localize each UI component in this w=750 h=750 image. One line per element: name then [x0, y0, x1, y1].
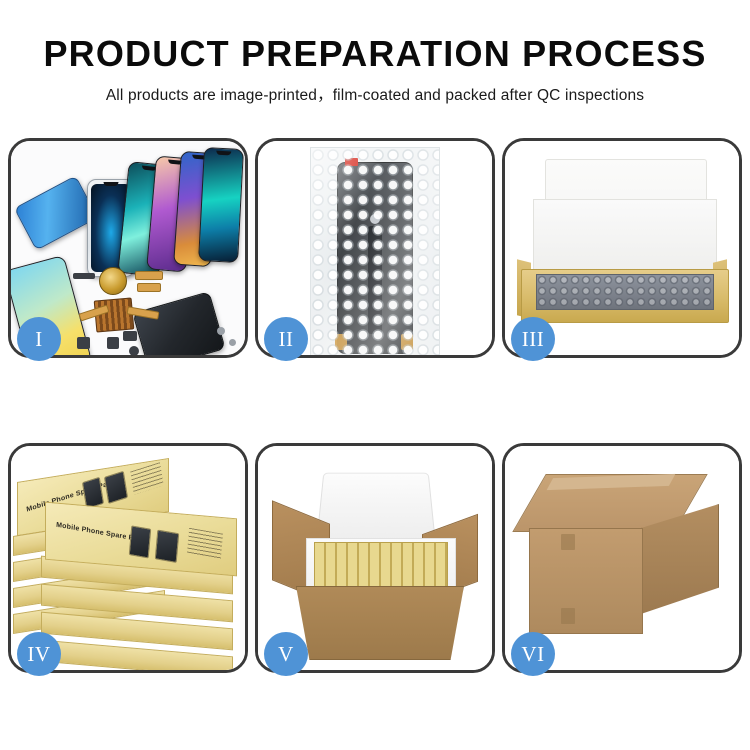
box-phone-image-icon	[129, 525, 152, 558]
vibrator-part-icon	[123, 331, 137, 341]
bubble-wrap-pouch	[310, 147, 440, 355]
plastic-sheen	[311, 148, 439, 355]
bubble-wrapped-contents-icon	[536, 274, 714, 310]
page-subtitle: All products are image-printed，film-coat…	[0, 83, 750, 105]
carton-handle-tab-icon	[561, 534, 575, 550]
phone-back-housing-icon	[132, 291, 225, 355]
step-badge-6: VI	[511, 632, 555, 676]
step-badge-2: II	[264, 317, 308, 361]
step-card-6: VI	[502, 443, 742, 673]
button-part-icon	[129, 346, 139, 355]
blue-adhesive-film-icon	[14, 175, 98, 250]
step-card-1: I	[8, 138, 248, 358]
speaker-coil-icon	[99, 267, 127, 295]
product-preparation-infographic: PRODUCT PREPARATION PROCESS All products…	[0, 0, 750, 750]
step-badge-4: IV	[17, 632, 61, 676]
header: PRODUCT PREPARATION PROCESS All products…	[0, 0, 750, 105]
foam-lining-icon	[533, 199, 717, 279]
gold-boxes-row-icon	[314, 542, 448, 590]
page-title: PRODUCT PREPARATION PROCESS	[0, 34, 750, 74]
step-badge-1: I	[17, 317, 61, 361]
screw-part-icon	[229, 339, 236, 346]
step-badge-5: V	[264, 632, 308, 676]
flex-cable-icon	[137, 283, 161, 292]
box-phone-image-icon	[155, 530, 180, 563]
step-card-3: III	[502, 138, 742, 358]
kraft-box-tray-icon	[521, 269, 729, 323]
process-steps-grid: I II	[8, 138, 742, 673]
step-card-5: V	[255, 443, 495, 673]
carton-front-face	[529, 528, 643, 634]
step-badge-3: III	[511, 317, 555, 361]
aqua-screen-phone-icon	[198, 147, 244, 263]
foam-lid-icon	[316, 473, 436, 542]
flex-cable-icon	[135, 271, 163, 280]
connector-part-icon	[73, 273, 95, 279]
camera-part-icon	[107, 337, 119, 349]
step-card-2: II	[255, 138, 495, 358]
screw-part-icon	[217, 327, 225, 335]
step-card-4: Mobile Phone Spare Parts Mobile Phone Sp…	[8, 443, 248, 673]
carton-handle-tab-icon	[561, 608, 575, 624]
brown-carton-icon	[296, 586, 464, 660]
battery-part-icon	[77, 337, 90, 349]
